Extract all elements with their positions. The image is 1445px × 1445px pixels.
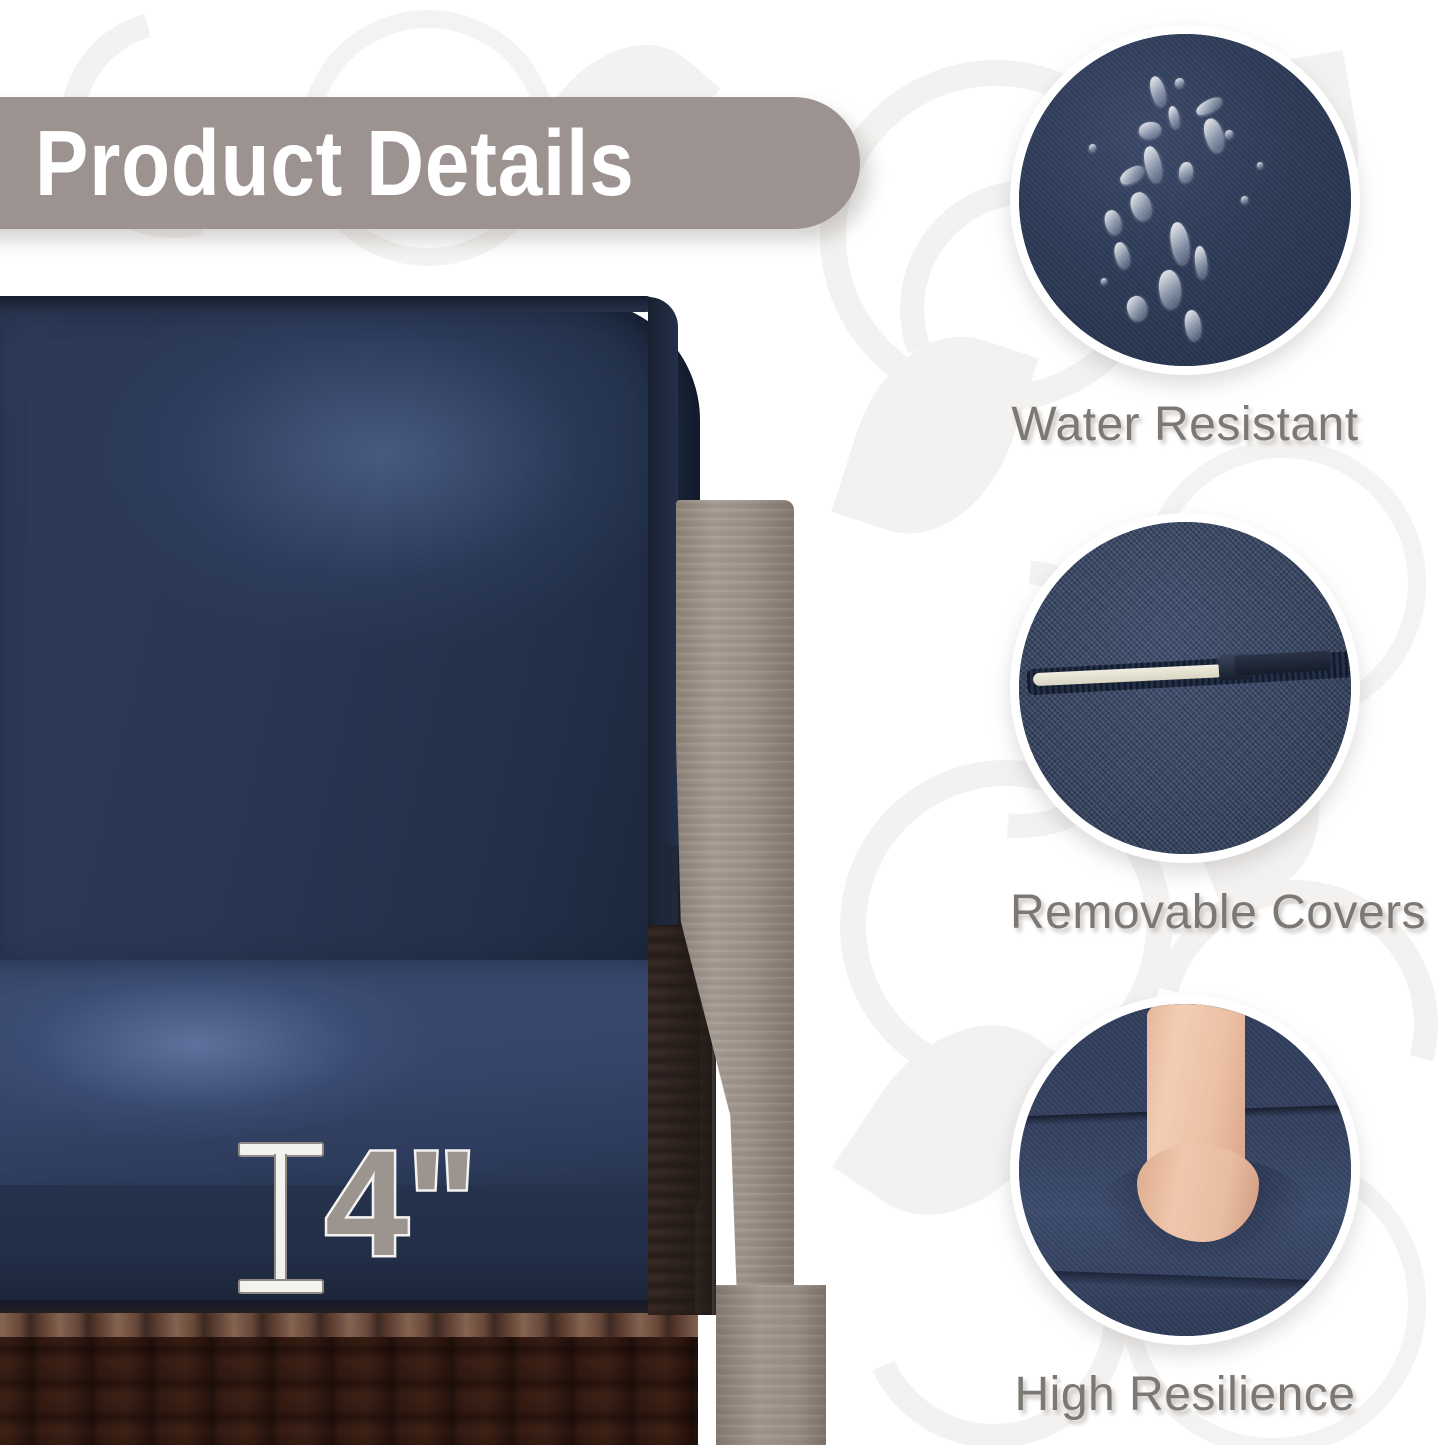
feature-label-removable-covers: Removable Covers bbox=[1010, 885, 1360, 940]
page-title: Product Details bbox=[35, 117, 635, 210]
feature-water-resistant: Water Resistant bbox=[1010, 25, 1360, 452]
armrest-wood-leg bbox=[716, 1285, 826, 1445]
section-title-banner: Product Details bbox=[0, 97, 860, 229]
navy-fabric-texture bbox=[1019, 34, 1351, 366]
back-cushion bbox=[0, 300, 700, 1000]
wicker-base-top-row bbox=[0, 1313, 698, 1337]
dimension-ibeam-marker bbox=[238, 1142, 324, 1294]
feature-high-resilience: High Resilience bbox=[1010, 995, 1360, 1422]
feature-image-removable-covers bbox=[1010, 513, 1360, 863]
feature-image-water-resistant bbox=[1010, 25, 1360, 375]
dimension-value-label: 4" bbox=[325, 1128, 476, 1278]
feature-label-water-resistant: Water Resistant bbox=[1010, 397, 1360, 452]
ibeam-bottom-cap bbox=[238, 1279, 324, 1294]
feature-image-high-resilience bbox=[1010, 995, 1360, 1345]
ibeam-stem bbox=[274, 1154, 287, 1282]
feature-label-high-resilience: High Resilience bbox=[1010, 1367, 1360, 1422]
product-details-infographic: Product Details 4" bbox=[0, 0, 1445, 1445]
feature-removable-covers: Removable Covers bbox=[1010, 513, 1360, 940]
